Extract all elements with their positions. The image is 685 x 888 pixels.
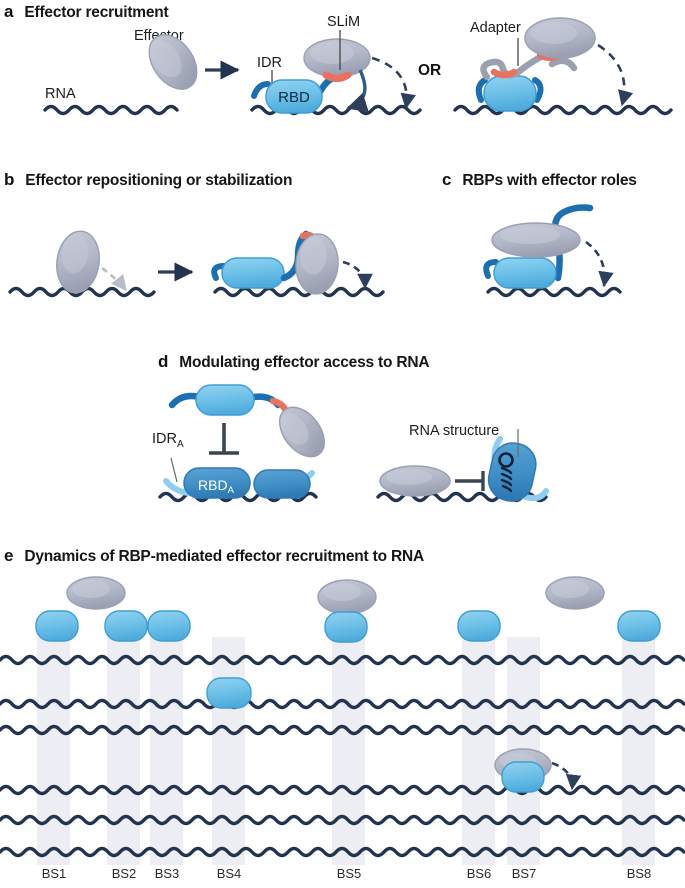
rna-strand-a-left [45, 107, 177, 114]
panel-c-title-text: RBPs with effector roles [462, 172, 636, 189]
panel-b-title-text: Effector repositioning or stabilization [25, 172, 292, 189]
panel-d-graphic: RBDA [0, 375, 685, 515]
panel-b-letter: b [4, 170, 14, 189]
rbd-label-a: RBD [278, 89, 310, 106]
bs-label-3: BS3 [146, 866, 188, 881]
dashed-arrow-a-right [598, 45, 624, 105]
panel-e-letter: e [4, 546, 13, 565]
dashed-arrow-e-bs7 [552, 763, 572, 789]
bs-column-5 [332, 637, 365, 865]
bs-label-1: BS1 [33, 866, 75, 881]
panel-d-title-text: Modulating effector access to RNA [179, 354, 429, 371]
bs-label-4: BS4 [208, 866, 250, 881]
bs-column-6 [462, 637, 495, 865]
rbd-shape-b [222, 258, 284, 288]
bs-label-5: BS5 [328, 866, 370, 881]
rbp-e-row4-bs7 [502, 762, 544, 792]
dashed-arrow-b-left [102, 268, 126, 290]
slim-shape-a-right-low [494, 72, 514, 75]
rbp-e-bs5 [325, 612, 367, 642]
effector-shape-b-left [53, 228, 103, 295]
panel-c-title: c RBPs with effector roles [442, 170, 637, 190]
bs-column-1 [37, 637, 70, 865]
bs-label-6: BS6 [458, 866, 500, 881]
slim-shape-a [326, 75, 348, 79]
dashed-arrow-a-mid [372, 58, 407, 108]
rbp-e-bs1 [36, 611, 78, 641]
panel-e-graphic [0, 575, 685, 888]
panel-c-letter: c [442, 170, 451, 189]
panel-d-title: d Modulating effector access to RNA [158, 352, 429, 372]
rbd-shape-c [494, 258, 556, 288]
bs-column-8 [622, 637, 655, 865]
effector-shape-a [139, 26, 206, 98]
bs-column-4 [212, 637, 245, 865]
panel-b-graphic [0, 200, 440, 310]
bs-label-2: BS2 [103, 866, 145, 881]
bs-column-2 [107, 637, 140, 865]
panel-c-graphic [430, 200, 685, 310]
bs-label-7: BS7 [503, 866, 545, 881]
bs-column-3 [150, 637, 183, 865]
rbd-b-shape-d [254, 470, 310, 498]
panel-e-title-text: Dynamics of RBP-mediated effector recrui… [24, 548, 424, 565]
rna-strand-b-right [215, 289, 383, 296]
rbp-e-bs3 [148, 611, 190, 641]
rna-strand-a-right [455, 107, 671, 114]
rbp-e-bs2 [105, 611, 147, 641]
rbp-e-row2-bs4 [207, 678, 251, 708]
bs-label-8: BS8 [618, 866, 660, 881]
rbp-e-bs8 [618, 611, 660, 641]
binding-site-columns [37, 637, 655, 865]
panel-e-title: e Dynamics of RBP-mediated effector recr… [4, 546, 424, 566]
dashed-arrow-b-right [343, 262, 365, 288]
panel-d-letter: d [158, 352, 168, 371]
idr-a-leader-d [171, 458, 177, 482]
figure-root: a Effector recruitment RNA Effector IDR … [0, 0, 685, 888]
rna-strand-c [488, 289, 620, 296]
panel-b-title: b Effector repositioning or stabilizatio… [4, 170, 292, 190]
rbp-e-bs6 [458, 611, 500, 641]
panel-a-graphic: RBD [0, 0, 685, 160]
rbd-shape-d-upper [196, 385, 254, 415]
effector-shape-d [271, 399, 334, 465]
rbd-shape-a-right [484, 76, 536, 111]
dashed-arrow-c [586, 242, 605, 286]
